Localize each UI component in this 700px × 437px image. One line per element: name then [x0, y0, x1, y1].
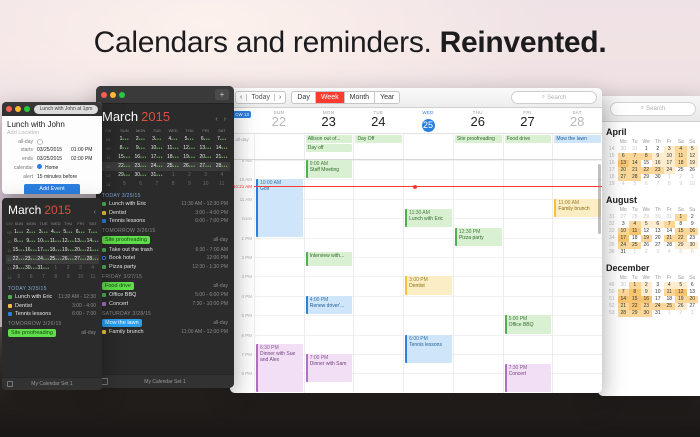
year-day-8[interactable]: 8 — [641, 153, 653, 160]
year-day-8[interactable]: 8 — [675, 221, 687, 228]
year-day-30[interactable]: 30 — [618, 146, 630, 153]
year-day-27[interactable]: 27 — [618, 214, 630, 221]
agenda-item[interactable]: Take out the trash6:30 - 7:00 AM — [102, 247, 228, 253]
dark-calendar-set-label[interactable]: My Calendar Set 1 — [144, 379, 185, 385]
year-day-3[interactable]: 3 — [618, 221, 630, 228]
month-day-7[interactable]: 7••• — [214, 135, 230, 144]
month-day-15[interactable]: 15••• — [116, 153, 132, 162]
year-month-grid[interactable]: MoTuWeThFrSaSu49301234565078910111213511… — [606, 275, 698, 317]
agenda-item[interactable]: Dentist3:00 - 4:00 PM — [102, 210, 228, 216]
month-day-16[interactable]: 16••• — [25, 246, 37, 255]
agenda-item[interactable]: Office BBQ5:00 - 6:00 PM — [102, 292, 228, 298]
year-day-13[interactable]: 13 — [652, 228, 664, 235]
day-column-1[interactable]: 9:00 AMStaff MeetingInterview with...4:0… — [304, 160, 354, 393]
month-day-22[interactable]: 22••• — [13, 255, 25, 264]
month-day-25[interactable]: 25••• — [165, 162, 181, 171]
mini-month-grid[interactable]: CWSUNMONTUEWEDTHUFRISAT091•••2•••3•••4••… — [2, 219, 102, 282]
year-day-6[interactable]: 6 — [641, 181, 653, 188]
year-day-5[interactable]: 5 — [687, 146, 699, 153]
month-day-13[interactable]: 13••• — [198, 144, 214, 153]
year-day-16[interactable]: 16 — [687, 228, 699, 235]
year-day-20[interactable]: 20 — [652, 235, 664, 242]
year-search-input[interactable]: ⌕ Search — [610, 102, 696, 116]
inspector-calendar-row[interactable]: calendar Home — [7, 164, 97, 171]
year-day-17[interactable]: 17 — [652, 296, 664, 303]
year-day-20[interactable]: 20 — [687, 296, 699, 303]
month-day-15[interactable]: 15••• — [13, 246, 25, 255]
year-day-21[interactable]: 21 — [629, 167, 641, 174]
year-day-14[interactable]: 14 — [618, 296, 630, 303]
year-day-23[interactable]: 23 — [687, 235, 699, 242]
day-header-28[interactable]: SAT28 — [552, 108, 602, 133]
starts-time-field[interactable]: 01:00 PM — [71, 147, 92, 153]
year-day-8[interactable]: 8 — [629, 289, 641, 296]
all-day-column-3[interactable] — [403, 134, 453, 159]
year-day-22[interactable]: 22 — [629, 303, 641, 310]
day-header-24[interactable]: TUE24 — [353, 108, 403, 133]
year-day-2[interactable]: 2 — [675, 310, 687, 317]
inspector-allday-row[interactable]: all-day — [7, 139, 97, 145]
inspector-starts-row[interactable]: starts 03/25/2015 01:00 PM — [7, 147, 97, 153]
all-day-column-1[interactable]: Allison out of...Day off — [304, 134, 354, 159]
year-day-21[interactable]: 21 — [664, 235, 676, 242]
month-day-11[interactable]: 11••• — [50, 237, 62, 246]
month-day-4[interactable]: 4 — [214, 171, 230, 180]
today-button[interactable]: Today — [247, 94, 275, 101]
month-day-9[interactable]: 9••• — [133, 144, 149, 153]
traffic-lights[interactable] — [6, 106, 30, 112]
year-day-31[interactable]: 31 — [618, 249, 630, 256]
day-header-27[interactable]: FRI27 — [503, 108, 553, 133]
year-day-24[interactable]: 24 — [664, 167, 676, 174]
allday-checkbox[interactable] — [37, 139, 43, 145]
zoom-icon[interactable] — [24, 106, 30, 112]
year-day-4[interactable]: 4 — [629, 221, 641, 228]
month-day-8[interactable]: 8 — [50, 273, 62, 282]
reminder-checkbox-icon[interactable] — [102, 256, 106, 260]
agenda-item[interactable]: Tennis lessons6:00 - 7:00 — [8, 311, 96, 317]
starts-date-field[interactable]: 03/25/2015 — [37, 147, 71, 153]
year-day-31[interactable]: 31 — [664, 214, 676, 221]
month-day-7[interactable]: 7 — [37, 273, 49, 282]
mini-agenda-list[interactable]: TODAY 3/25/15Lunch with Eric11:30 AM - 1… — [2, 286, 102, 337]
month-day-7[interactable]: 7 — [149, 180, 165, 189]
day-column-4[interactable]: 12:30 PMPizza party — [453, 160, 503, 393]
all-day-event[interactable]: Day off — [306, 144, 353, 152]
month-day-9[interactable]: 9 — [62, 273, 74, 282]
year-day-18[interactable]: 18 — [664, 296, 676, 303]
year-day-19[interactable]: 19 — [641, 235, 653, 242]
year-day-5[interactable]: 5 — [629, 181, 641, 188]
year-day-24[interactable]: 24 — [652, 303, 664, 310]
year-day-10[interactable]: 10 — [664, 153, 676, 160]
month-day-28[interactable]: 28••• — [214, 162, 230, 171]
year-day-10[interactable]: 10 — [618, 228, 630, 235]
year-day-9[interactable]: 9 — [687, 221, 699, 228]
year-day-28[interactable]: 28 — [664, 242, 676, 249]
view-tab-year[interactable]: Year — [375, 92, 399, 103]
year-day-16[interactable]: 16 — [652, 160, 664, 167]
year-day-25[interactable]: 25 — [629, 242, 641, 249]
calendar-event[interactable]: 7:00 PMDinner with Sam — [306, 354, 353, 382]
month-day-18[interactable]: 18••• — [165, 153, 181, 162]
year-day-15[interactable]: 15 — [629, 296, 641, 303]
month-day-3[interactable]: 3••• — [37, 228, 49, 237]
month-day-23[interactable]: 23••• — [133, 162, 149, 171]
all-day-column-4[interactable]: Site proofreading — [453, 134, 503, 159]
day-header-25[interactable]: WED25 — [403, 108, 453, 133]
year-day-14[interactable]: 14 — [664, 228, 676, 235]
year-day-9[interactable]: 9 — [641, 289, 653, 296]
month-day-4[interactable]: 4••• — [165, 135, 181, 144]
month-day-4[interactable]: 4 — [87, 264, 99, 273]
dark-month-grid[interactable]: CWSUNMONTUEWEDTHUFRISAT091•••2•••3•••4••… — [96, 126, 234, 189]
month-day-1[interactable]: 1••• — [116, 135, 132, 144]
year-day-12[interactable]: 12 — [641, 228, 653, 235]
calendar-event[interactable]: 10:00 AMGolf — [256, 179, 303, 236]
year-day-2[interactable]: 2 — [641, 282, 653, 289]
month-day-8[interactable]: 8••• — [116, 144, 132, 153]
calendar-event[interactable]: 5:00 PMOffice BBQ — [505, 315, 552, 333]
year-day-7[interactable]: 7 — [664, 221, 676, 228]
year-day-1[interactable]: 1 — [629, 282, 641, 289]
close-icon[interactable] — [101, 92, 107, 98]
year-day-3[interactable]: 3 — [687, 310, 699, 317]
month-day-3[interactable]: 3 — [198, 171, 214, 180]
year-day-7[interactable]: 7 — [618, 289, 630, 296]
year-day-1[interactable]: 1 — [664, 174, 676, 181]
year-day-9[interactable]: 9 — [652, 153, 664, 160]
all-day-event[interactable]: Day Off — [355, 135, 402, 143]
year-day-12[interactable]: 12 — [687, 153, 699, 160]
year-day-26[interactable]: 26 — [675, 303, 687, 310]
year-month-grid[interactable]: MoTuWeThFrSaSu14303112345156789101112161… — [606, 139, 698, 188]
month-day-17[interactable]: 17••• — [149, 153, 165, 162]
month-day-22[interactable]: 22••• — [116, 162, 132, 171]
year-day-28[interactable]: 28 — [618, 310, 630, 317]
year-day-17[interactable]: 17 — [618, 235, 630, 242]
calendar-event[interactable]: 9:00 AMStaff Meeting — [306, 160, 353, 178]
day-column-0[interactable]: 10:00 AMGolf6:30 PMDinner with Sue and A… — [254, 160, 304, 393]
month-day-1[interactable]: 1 — [165, 171, 181, 180]
year-day-4[interactable]: 4 — [675, 146, 687, 153]
year-day-4[interactable]: 4 — [664, 282, 676, 289]
dark-prev-month-icon[interactable]: ‹ — [215, 116, 219, 123]
month-day-11[interactable]: 11••• — [165, 144, 181, 153]
month-day-21[interactable]: 21••• — [214, 153, 230, 162]
month-day-6[interactable]: 6 — [133, 180, 149, 189]
year-day-3[interactable]: 3 — [652, 249, 664, 256]
mini-calendar-set-label[interactable]: My Calendar Set 1 — [31, 381, 72, 387]
agenda-item[interactable]: Site proofreadingall-day — [102, 236, 228, 244]
year-day-26[interactable]: 26 — [687, 167, 699, 174]
year-day-29[interactable]: 29 — [629, 310, 641, 317]
inspector-ends-row[interactable]: ends 03/25/2015 02:00 PM — [7, 156, 97, 162]
year-day-13[interactable]: 13 — [618, 160, 630, 167]
month-day-2[interactable]: 2••• — [133, 135, 149, 144]
year-day-30[interactable]: 30 — [652, 214, 664, 221]
agenda-item[interactable]: Site proofreadingall-day — [8, 329, 96, 337]
calendar-event[interactable]: 12:30 PMPizza party — [455, 228, 502, 246]
year-day-2[interactable]: 2 — [687, 214, 699, 221]
year-day-29[interactable]: 29 — [641, 214, 653, 221]
year-day-28[interactable]: 28 — [629, 214, 641, 221]
view-switcher[interactable]: DayWeekMonthYear — [291, 91, 400, 104]
calendar-event[interactable]: 3:00 PMDentist — [405, 276, 452, 294]
year-day-3[interactable]: 3 — [687, 174, 699, 181]
month-day-9[interactable]: 9 — [181, 180, 197, 189]
year-day-6[interactable]: 6 — [618, 153, 630, 160]
agenda-item[interactable]: Family brunch11:00 AM - 12:00 PM — [102, 329, 228, 335]
month-day-31[interactable]: 31••• — [149, 171, 165, 180]
year-day-2[interactable]: 2 — [641, 249, 653, 256]
add-event-button[interactable]: Add Event — [24, 184, 80, 195]
view-tab-month[interactable]: Month — [345, 92, 375, 103]
month-day-19[interactable]: 19••• — [62, 246, 74, 255]
year-day-2[interactable]: 2 — [652, 146, 664, 153]
close-icon[interactable] — [6, 106, 12, 112]
year-day-10[interactable]: 10 — [652, 289, 664, 296]
agenda-item[interactable]: Book hotel12:00 PM — [102, 255, 228, 261]
month-day-11[interactable]: 11 — [214, 180, 230, 189]
year-day-1[interactable]: 1 — [629, 249, 641, 256]
agenda-item[interactable]: Food driveall-day — [102, 282, 228, 290]
month-day-3[interactable]: 3••• — [149, 135, 165, 144]
month-day-10[interactable]: 10••• — [37, 237, 49, 246]
agenda-item[interactable]: Dentist3:00 - 4:00 — [8, 303, 96, 309]
all-day-column-5[interactable]: Food drive — [503, 134, 553, 159]
month-day-16[interactable]: 16••• — [133, 153, 149, 162]
month-day-14[interactable]: 14••• — [87, 237, 99, 246]
month-day-17[interactable]: 17••• — [37, 246, 49, 255]
ends-date-field[interactable]: 03/25/2015 — [37, 156, 71, 162]
month-day-20[interactable]: 20••• — [198, 153, 214, 162]
year-day-26[interactable]: 26 — [641, 242, 653, 249]
gear-icon[interactable] — [7, 381, 13, 387]
year-day-6[interactable]: 6 — [687, 249, 699, 256]
month-day-29[interactable]: 29••• — [13, 264, 25, 273]
mini-prev-month-icon[interactable]: ‹ — [94, 209, 96, 216]
agenda-item[interactable]: Lunch with Eric11:30 AM - 12:30 PM — [102, 201, 228, 207]
month-day-2[interactable]: 2 — [181, 171, 197, 180]
year-day-3[interactable]: 3 — [664, 146, 676, 153]
day-column-6[interactable]: 11:00 AMFamily brunch — [552, 160, 602, 393]
year-day-9[interactable]: 9 — [675, 181, 687, 188]
prev-button[interactable]: ‹ — [236, 94, 247, 101]
month-day-6[interactable]: 6 — [25, 273, 37, 282]
all-day-event[interactable]: Site proofreading — [455, 135, 502, 143]
day-header-22[interactable]: SUN22 — [254, 108, 304, 133]
month-day-3[interactable]: 3 — [74, 264, 86, 273]
view-tab-week[interactable]: Week — [316, 92, 345, 103]
year-day-30[interactable]: 30 — [652, 174, 664, 181]
month-day-23[interactable]: 23••• — [25, 255, 37, 264]
month-day-8[interactable]: 8 — [165, 180, 181, 189]
year-day-8[interactable]: 8 — [664, 181, 676, 188]
year-day-25[interactable]: 25 — [675, 167, 687, 174]
month-day-26[interactable]: 26••• — [181, 162, 197, 171]
agenda-item[interactable]: Tennis lessons6:00 - 7:00 PM — [102, 218, 228, 224]
month-day-30[interactable]: 30••• — [25, 264, 37, 273]
month-day-5[interactable]: 5••• — [181, 135, 197, 144]
month-day-7[interactable]: 7••• — [87, 228, 99, 237]
year-day-31[interactable]: 31 — [652, 310, 664, 317]
traffic-lights[interactable] — [101, 92, 125, 98]
month-day-27[interactable]: 27••• — [74, 255, 86, 264]
year-day-27[interactable]: 27 — [618, 174, 630, 181]
next-button[interactable]: › — [275, 94, 285, 101]
year-day-29[interactable]: 29 — [675, 242, 687, 249]
month-day-2[interactable]: 2••• — [25, 228, 37, 237]
year-day-22[interactable]: 22 — [641, 167, 653, 174]
month-day-30[interactable]: 30••• — [133, 171, 149, 180]
month-day-10[interactable]: 10 — [74, 273, 86, 282]
year-day-23[interactable]: 23 — [641, 303, 653, 310]
calendar-event[interactable]: 6:30 PMDinner with Sue and Alex — [256, 344, 303, 392]
inspector-alert-row[interactable]: alert 15 minutes before — [7, 174, 97, 180]
month-day-2[interactable]: 2 — [62, 264, 74, 273]
year-day-22[interactable]: 22 — [675, 235, 687, 242]
month-day-1[interactable]: 1 — [50, 264, 62, 273]
inspector-event-title[interactable]: Lunch with John — [7, 120, 97, 129]
month-day-12[interactable]: 12••• — [181, 144, 197, 153]
year-day-23[interactable]: 23 — [652, 167, 664, 174]
year-day-18[interactable]: 18 — [675, 160, 687, 167]
month-day-31[interactable]: 31••• — [37, 264, 49, 273]
calendar-event[interactable]: 11:30 AMLunch with Eric — [405, 209, 452, 227]
all-day-column-0[interactable] — [254, 134, 304, 159]
month-day-18[interactable]: 18••• — [50, 246, 62, 255]
calendar-event[interactable]: Interview with... — [306, 252, 353, 266]
day-column-2[interactable] — [353, 160, 403, 393]
year-day-21[interactable]: 21 — [618, 303, 630, 310]
year-day-6[interactable]: 6 — [652, 221, 664, 228]
ends-time-field[interactable]: 02:00 PM — [71, 156, 92, 162]
year-day-30[interactable]: 30 — [641, 310, 653, 317]
all-day-column-6[interactable]: Mow the lawn — [552, 134, 602, 159]
month-day-20[interactable]: 20••• — [74, 246, 86, 255]
all-day-event[interactable]: Food drive — [505, 135, 552, 143]
year-day-31[interactable]: 31 — [629, 146, 641, 153]
month-day-27[interactable]: 27••• — [198, 162, 214, 171]
month-day-13[interactable]: 13••• — [74, 237, 86, 246]
day-column-3[interactable]: 11:30 AMLunch with Eric3:00 PMDentist6:0… — [403, 160, 453, 393]
agenda-item[interactable]: Lunch with Eric11:30 AM - 12:30 — [8, 294, 96, 300]
dark-month-nav[interactable]: ‹ › — [215, 116, 228, 123]
mini-month-nav[interactable]: ‹ — [94, 209, 96, 216]
year-day-15[interactable]: 15 — [675, 228, 687, 235]
all-day-column-2[interactable]: Day Off — [353, 134, 403, 159]
month-day-10[interactable]: 10••• — [149, 144, 165, 153]
dark-next-month-icon[interactable]: › — [224, 116, 228, 123]
month-day-8[interactable]: 8••• — [13, 237, 25, 246]
dark-agenda-list[interactable]: TODAY 3/25/15Lunch with Eric11:30 AM - 1… — [96, 193, 234, 335]
month-day-5[interactable]: 5 — [116, 180, 132, 189]
calendar-search-input[interactable]: ⌕ Search — [511, 91, 597, 104]
calendar-select[interactable]: Home — [37, 164, 58, 171]
quick-entry-input[interactable]: Lunch with John at 1pm — [34, 105, 98, 114]
year-day-20[interactable]: 20 — [618, 167, 630, 174]
alert-select[interactable]: 15 minutes before — [37, 174, 77, 180]
year-day-27[interactable]: 27 — [652, 242, 664, 249]
year-day-7[interactable]: 7 — [652, 181, 664, 188]
agenda-item[interactable]: Pizza party12:30 - 1:30 PM — [102, 264, 228, 270]
year-day-30[interactable]: 30 — [618, 282, 630, 289]
year-day-10[interactable]: 10 — [687, 181, 699, 188]
year-day-5[interactable]: 5 — [641, 221, 653, 228]
year-day-1[interactable]: 1 — [675, 214, 687, 221]
day-column-5[interactable]: 5:00 PMOffice BBQ7:30 PMConcert — [503, 160, 553, 393]
calendar-event[interactable]: 7:30 PMConcert — [505, 364, 552, 392]
month-day-29[interactable]: 29••• — [116, 171, 132, 180]
month-day-9[interactable]: 9••• — [25, 237, 37, 246]
gear-icon[interactable] — [101, 378, 108, 385]
month-day-24[interactable]: 24••• — [37, 255, 49, 264]
year-day-2[interactable]: 2 — [675, 174, 687, 181]
month-day-14[interactable]: 14••• — [214, 144, 230, 153]
year-day-15[interactable]: 15 — [641, 160, 653, 167]
all-day-event[interactable]: Mow the lawn — [554, 135, 601, 143]
year-day-11[interactable]: 11 — [664, 289, 676, 296]
agenda-item[interactable]: Mow the lawnall-day — [102, 319, 228, 327]
zoom-icon[interactable] — [119, 92, 125, 98]
day-header-26[interactable]: THU26 — [453, 108, 503, 133]
view-tab-day[interactable]: Day — [292, 92, 315, 103]
agenda-item[interactable]: Concert7:30 - 10:00 PM — [102, 301, 228, 307]
year-day-18[interactable]: 18 — [629, 235, 641, 242]
year-day-6[interactable]: 6 — [687, 282, 699, 289]
month-day-19[interactable]: 19••• — [181, 153, 197, 162]
year-day-17[interactable]: 17 — [664, 160, 676, 167]
month-day-5[interactable]: 5••• — [62, 228, 74, 237]
month-day-4[interactable]: 4••• — [50, 228, 62, 237]
minimize-icon[interactable] — [15, 106, 21, 112]
calendar-event[interactable]: 11:00 AMFamily brunch — [554, 199, 601, 217]
year-day-11[interactable]: 11 — [675, 153, 687, 160]
month-day-21[interactable]: 21••• — [87, 246, 99, 255]
year-day-27[interactable]: 27 — [687, 303, 699, 310]
day-header-23[interactable]: MON23 — [304, 108, 354, 133]
year-day-3[interactable]: 3 — [652, 282, 664, 289]
year-day-19[interactable]: 19 — [687, 160, 699, 167]
year-day-14[interactable]: 14 — [629, 160, 641, 167]
year-day-1[interactable]: 1 — [641, 146, 653, 153]
month-day-11[interactable]: 11 — [87, 273, 99, 282]
year-day-7[interactable]: 7 — [629, 153, 641, 160]
year-day-29[interactable]: 29 — [641, 174, 653, 181]
month-day-10[interactable]: 10 — [198, 180, 214, 189]
year-day-1[interactable]: 1 — [664, 310, 676, 317]
month-day-26[interactable]: 26••• — [62, 255, 74, 264]
month-day-6[interactable]: 6••• — [74, 228, 86, 237]
year-month-grid[interactable]: MoTuWeThFrSaSu31272829303112323456789331… — [606, 207, 698, 256]
grid-scrollbar[interactable] — [598, 164, 601, 234]
month-day-6[interactable]: 6••• — [198, 135, 214, 144]
month-day-5[interactable]: 5 — [13, 273, 25, 282]
year-day-16[interactable]: 16 — [641, 296, 653, 303]
month-day-12[interactable]: 12••• — [62, 237, 74, 246]
year-day-28[interactable]: 28 — [629, 174, 641, 181]
year-day-11[interactable]: 11 — [629, 228, 641, 235]
week-grid[interactable]: 9 AM10 AM11 AMnoon1 PM2 PM3 PM4 PM5 PM6 … — [230, 160, 602, 393]
month-day-1[interactable]: 1••• — [13, 228, 25, 237]
year-day-5[interactable]: 5 — [675, 282, 687, 289]
month-day-28[interactable]: 28••• — [87, 255, 99, 264]
year-day-13[interactable]: 13 — [687, 289, 699, 296]
inspector-location-input[interactable]: Add Location — [7, 130, 97, 136]
year-day-19[interactable]: 19 — [675, 296, 687, 303]
year-day-24[interactable]: 24 — [618, 242, 630, 249]
